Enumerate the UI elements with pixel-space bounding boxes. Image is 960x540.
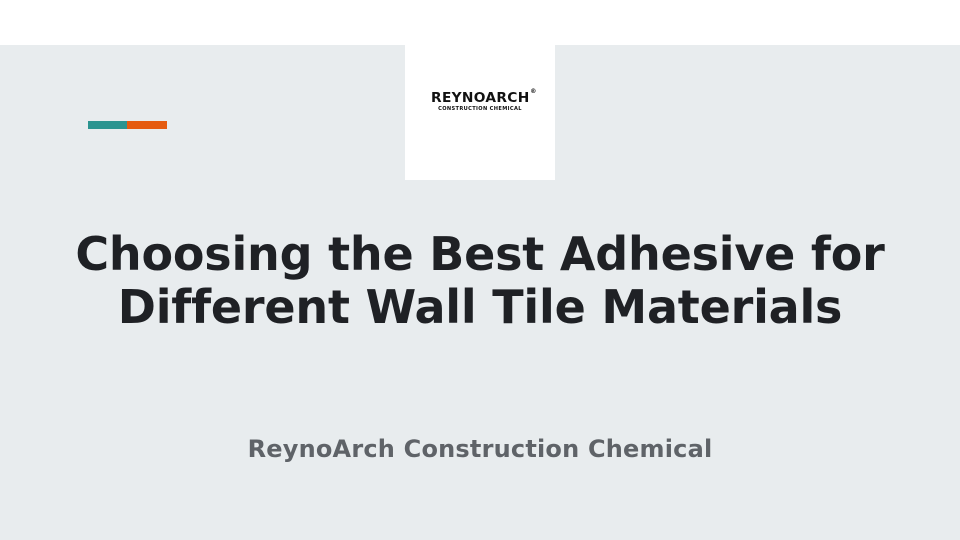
page-title: Choosing the Best Adhesive for Different… (0, 228, 960, 334)
subtitle-block: ReynoArch Construction Chemical (0, 434, 960, 464)
accent-bar-orange (127, 121, 167, 129)
logo-tagline: CONSTRUCTION CHEMICAL (432, 107, 529, 112)
title-line-2: Different Wall Tile Materials (118, 280, 842, 334)
title-block: Choosing the Best Adhesive for Different… (0, 228, 960, 334)
accent-bar-teal (88, 121, 127, 129)
slide-subtitle: ReynoArch Construction Chemical (0, 434, 960, 464)
logo-wordmark-text: REYNOARCH (431, 90, 529, 106)
presentation-slide: REYNOARCH® CONSTRUCTION CHEMICAL Choosin… (0, 0, 960, 540)
accent-bar-group (88, 121, 167, 129)
top-white-band (0, 0, 960, 45)
title-line-1: Choosing the Best Adhesive for (75, 227, 884, 281)
registered-trademark-icon: ® (530, 89, 536, 95)
reynoarch-logo: REYNOARCH® CONSTRUCTION CHEMICAL (432, 89, 529, 112)
logo-wordmark: REYNOARCH® (431, 92, 529, 106)
logo-card: REYNOARCH® CONSTRUCTION CHEMICAL (405, 45, 555, 180)
